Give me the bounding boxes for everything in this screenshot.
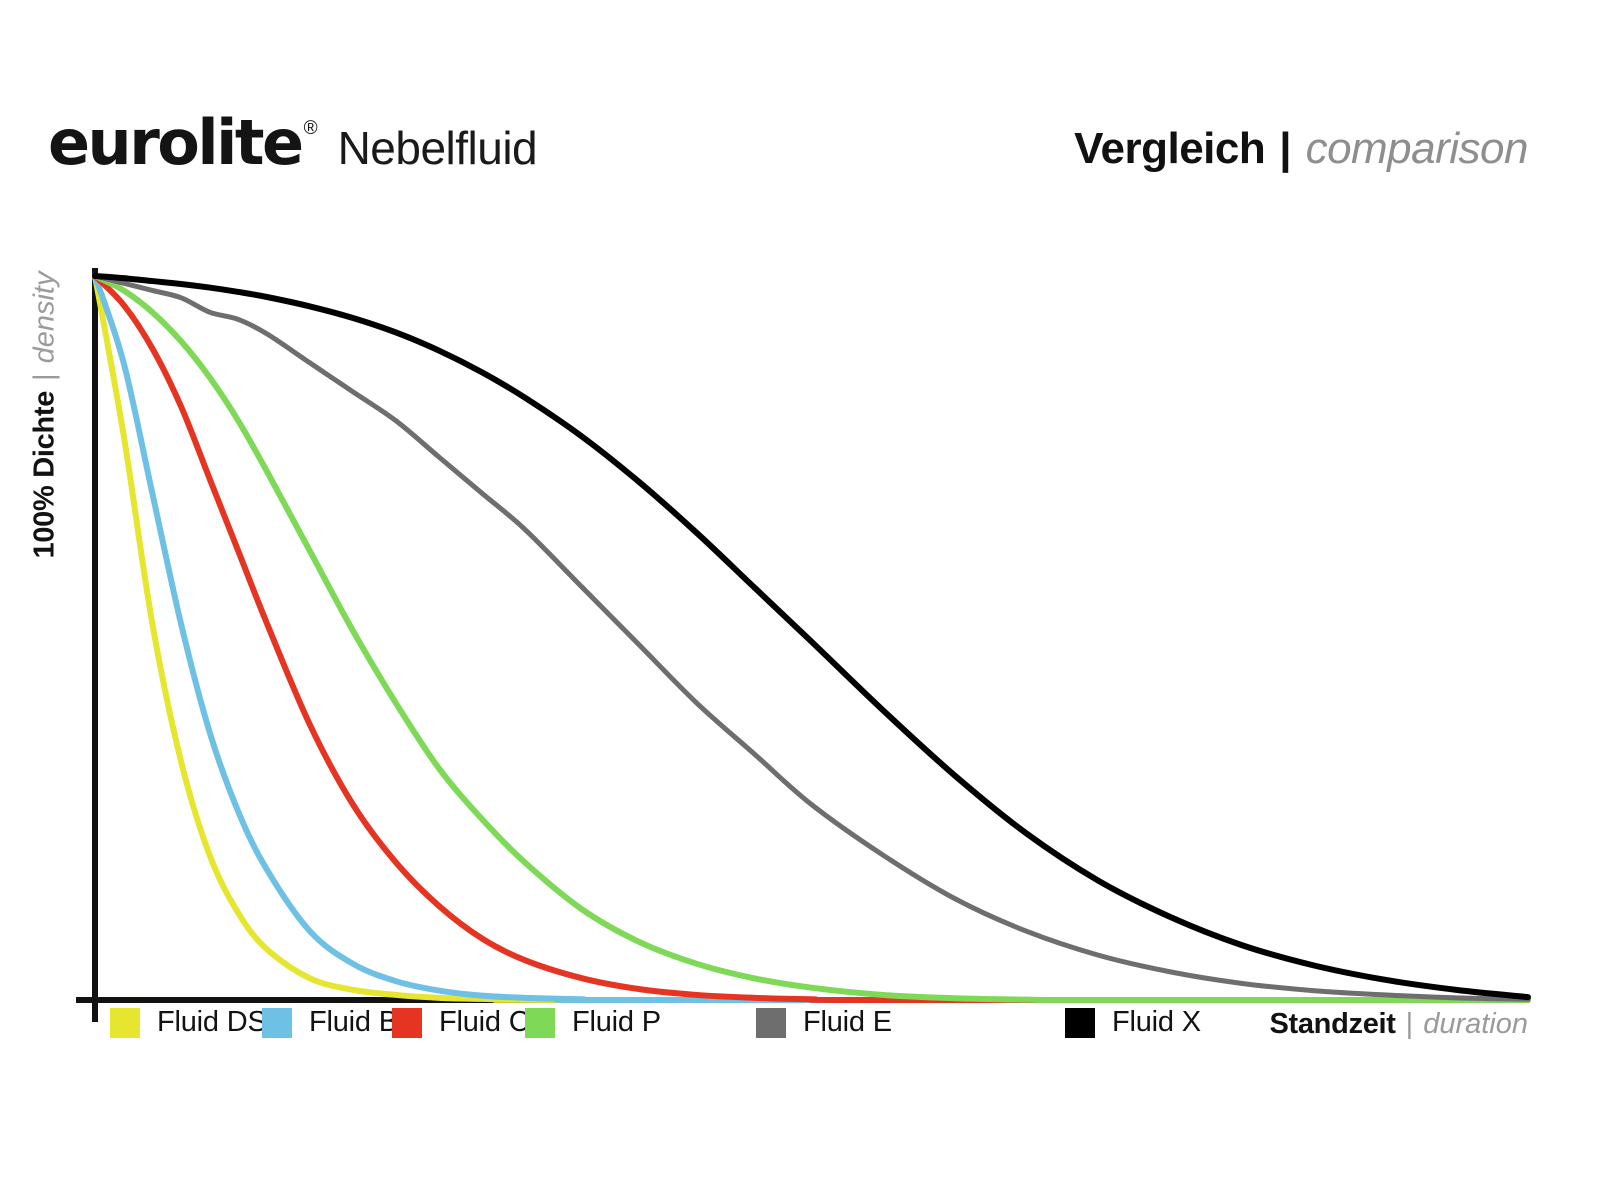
curve-fluid-x [95,276,1528,997]
curve-group [95,276,1528,1000]
x-axis-label: Standzeit | duration [1269,1008,1528,1041]
legend-item[interactable]: Fluid X [1065,1006,1201,1039]
legend-item[interactable]: Fluid E [756,1006,892,1039]
legend-color-swatch [262,1008,292,1038]
legend-item-label: Fluid C [439,1006,529,1039]
legend-color-swatch [110,1008,140,1038]
legend-item-label: Fluid X [1112,1006,1201,1039]
legend-item-label: Fluid P [572,1006,661,1039]
x-axis-label-en: duration [1423,1008,1528,1041]
legend-item-label: Fluid E [803,1006,892,1039]
legend-item[interactable]: Fluid DSA [110,1006,286,1039]
x-axis-label-de: Standzeit [1269,1008,1395,1041]
legend-color-swatch [525,1008,555,1038]
x-axis-label-separator: | [1406,1008,1414,1041]
legend-item-label: Fluid B [309,1006,398,1039]
legend-color-swatch [756,1008,786,1038]
legend-color-swatch [1065,1008,1095,1038]
legend-item[interactable]: Fluid C [392,1006,529,1039]
legend-color-swatch [392,1008,422,1038]
decay-chart: 100% Dichte | density Fluid DSAFluid BFl… [0,0,1600,1200]
legend-item[interactable]: Fluid P [525,1006,661,1039]
legend-item[interactable]: Fluid B [262,1006,398,1039]
